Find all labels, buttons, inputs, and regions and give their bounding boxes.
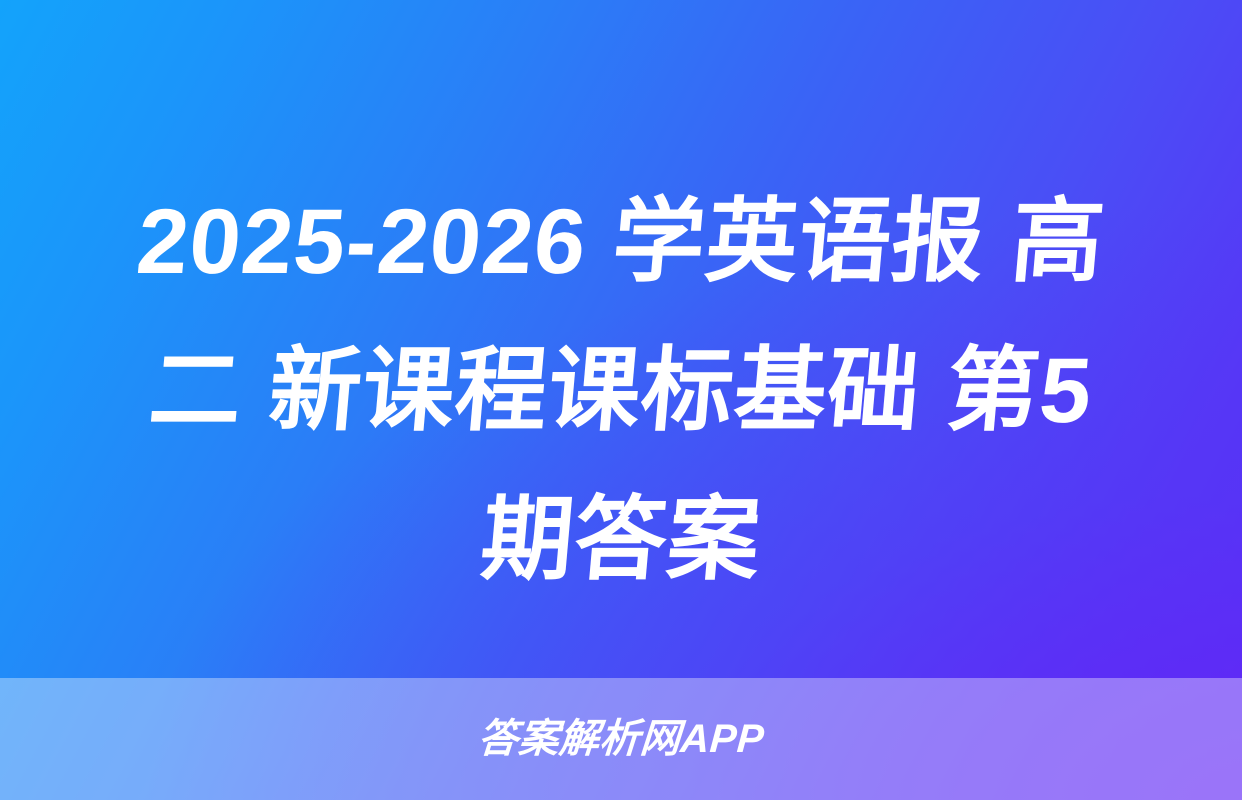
poster-canvas: 2025-2026 学英语报 高 二 新课程课标基础 第5 期答案 答案解析网A… xyxy=(0,0,1242,800)
headline-line-2: 二 新课程课标基础 第5 xyxy=(51,317,1190,466)
headline-block: 2025-2026 学英语报 高 二 新课程课标基础 第5 期答案 xyxy=(0,168,1242,615)
app-watermark-label: 答案解析网APP xyxy=(476,719,765,759)
headline-line-1: 2025-2026 学英语报 高 xyxy=(51,168,1190,317)
footer-band: 答案解析网APP xyxy=(0,678,1242,800)
headline-line-3: 期答案 xyxy=(51,466,1190,615)
